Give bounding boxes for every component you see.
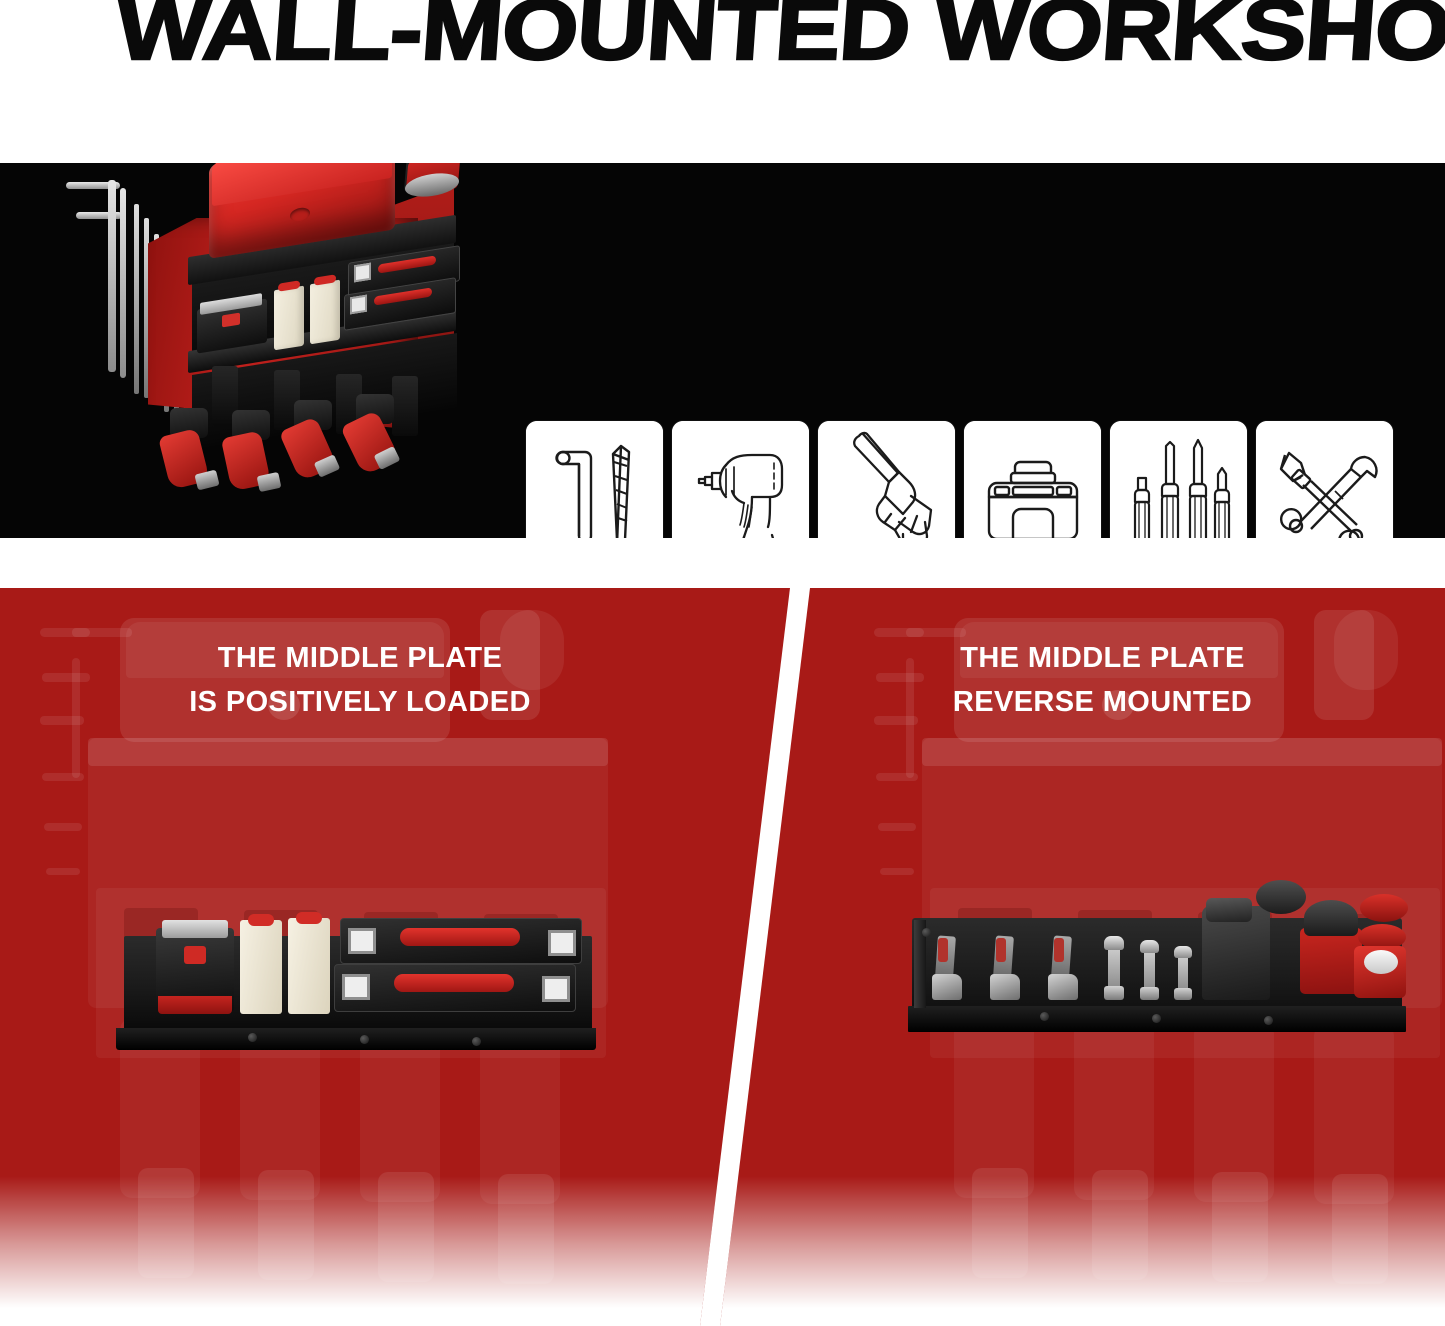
plate-screw: [472, 1037, 481, 1046]
wrench-grip: [1054, 938, 1064, 962]
battery-foot: [158, 996, 232, 1014]
tool-box-latch: [348, 928, 376, 954]
case-latch: [354, 263, 371, 283]
bottle-cap: [248, 914, 274, 926]
canister-lid: [1256, 880, 1306, 914]
product-render: [62, 163, 482, 538]
tape-roll: [1360, 894, 1408, 922]
panel-reverse-mounted: THE MIDDLE PLATE REVERSE MOUNTED: [700, 588, 1445, 1326]
spanner-head: [1140, 940, 1159, 953]
tool-bracket: [392, 376, 418, 436]
solvent-bottle: [274, 286, 304, 351]
middle-plate-edge-left: [116, 1028, 596, 1050]
feature-card-mini-chainsaw[interactable]: MINI LITHIUM-ION CHAINSAW: [818, 421, 955, 538]
electric-drill-icon: [672, 421, 809, 538]
page-title: WALL-MOUNTED WORKSHOP: [114, 0, 1445, 72]
solvent-bottle: [288, 918, 330, 1014]
plate-screw: [1040, 1012, 1049, 1021]
comparison-section: THE MIDDLE PLATE IS POSITIVELY LOADED: [0, 588, 1445, 1326]
feature-card-screwdriver[interactable]: SCREWDRIVER: [1110, 421, 1247, 538]
feature-card-tools-boxes[interactable]: TOOLS BOXES: [964, 421, 1101, 538]
title-band: WALL-MOUNTED WORKSHOP: [0, 0, 1445, 163]
solvent-bottle: [310, 280, 340, 345]
plate-screw: [1264, 1016, 1273, 1025]
battery-button: [184, 946, 206, 964]
feature-card-electric-drill[interactable]: ELECTRIC DRIL: [672, 421, 809, 538]
wrench-jaw: [1048, 974, 1078, 1000]
battery-terminal: [162, 920, 228, 938]
feature-cards-row: HEX KEY / DRILL BIT: [526, 421, 1393, 538]
spanner-head: [1140, 987, 1159, 1000]
case-latch: [350, 295, 367, 315]
tape-core: [1364, 950, 1398, 974]
bottle-cap: [296, 912, 322, 924]
spanner-head: [1174, 988, 1192, 1000]
drill-bit: [134, 204, 139, 394]
plate-screw: [248, 1033, 257, 1042]
wrench-jaw: [990, 974, 1020, 1000]
mini-chainsaw-icon: [818, 421, 955, 538]
tool-box-latch: [342, 974, 370, 1000]
tool-box-latch: [542, 976, 570, 1002]
wrenches-icon: [1256, 421, 1393, 538]
plate-screw: [922, 928, 931, 937]
battery-cap: [1304, 900, 1358, 936]
spanner-head: [1174, 946, 1192, 958]
rail: [108, 180, 116, 372]
panel-positively-loaded: THE MIDDLE PLATE IS POSITIVELY LOADED: [0, 588, 800, 1326]
tool-box-handle: [400, 928, 520, 946]
screwdriver-icon: [1110, 421, 1247, 538]
canister-spout: [1206, 898, 1252, 922]
rail: [120, 188, 126, 378]
tool-box-handle: [394, 974, 514, 992]
tool-box-latch: [548, 930, 576, 956]
feature-card-hex-key-drill-bit[interactable]: HEX KEY / DRILL BIT: [526, 421, 663, 538]
wrench-grip: [938, 938, 948, 962]
plate-screw: [1152, 1014, 1161, 1023]
plate-screw: [360, 1035, 369, 1044]
hero-band: HEX KEY / DRILL BIT: [0, 163, 1445, 538]
wrench-jaw: [932, 974, 962, 1000]
spanner-head: [1104, 936, 1124, 950]
solvent-bottle: [240, 920, 282, 1014]
battery-pack: [1300, 928, 1362, 994]
wrench-grip: [996, 938, 1006, 962]
feature-card-small-items[interactable]: SMALL ITEMS: [1256, 421, 1393, 538]
tool-box-icon: [964, 421, 1101, 538]
spanner-head: [1104, 986, 1124, 1000]
hex-key-drill-bit-icon: [526, 421, 663, 538]
